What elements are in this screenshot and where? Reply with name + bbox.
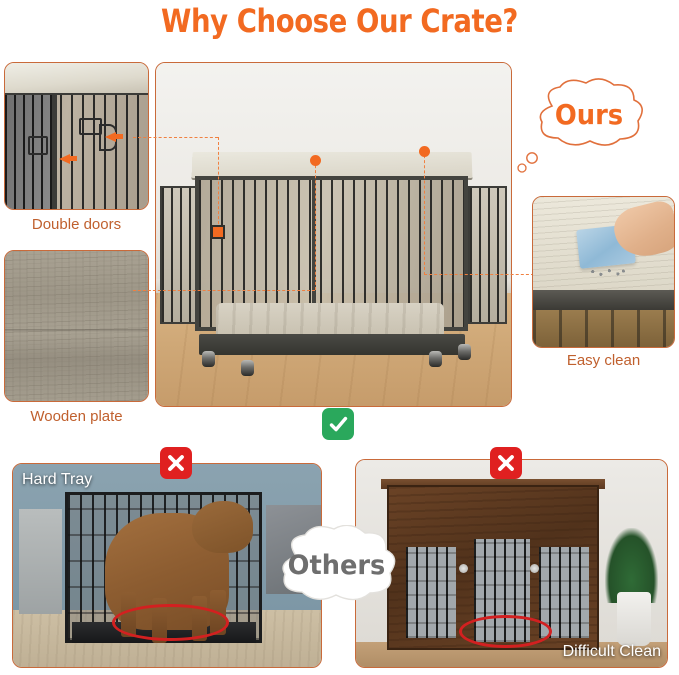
tabletop-edge: [533, 290, 674, 310]
callout-node-double-doors: [211, 225, 225, 239]
rattan-basket-row: [533, 310, 674, 348]
callout-line-wooden-plate-vertical: [315, 160, 316, 290]
crate-right-wing: [468, 186, 507, 323]
caster-wheel: [202, 351, 215, 367]
thought-bubble-ours: Ours: [528, 78, 650, 150]
cross-icon: [166, 453, 186, 473]
callout-dot-easy-clean-top: [419, 146, 430, 157]
mesh-door-left: [406, 547, 456, 638]
cross-icon: [496, 453, 516, 473]
check-icon: [328, 414, 349, 435]
callout-line-double-doors-vertical: [218, 137, 219, 229]
caption-wooden-plate: Wooden plate: [4, 408, 149, 425]
background-shelf: [19, 509, 62, 615]
crate-wood-tabletop: [191, 152, 472, 178]
caption-double-doors: Double doors: [4, 216, 149, 233]
status-badge-ours-check: [322, 408, 354, 440]
wood-grain-texture: [5, 251, 148, 401]
caster-wheel: [241, 360, 254, 376]
thought-bubble-others: Others: [270, 525, 403, 605]
arrow-right-icon-right-door: [105, 132, 116, 142]
caption-easy-clean: Easy clean: [532, 352, 675, 369]
callout-dot-wooden-plate-top: [310, 155, 321, 166]
caster-wheel: [458, 344, 471, 360]
callout-line-double-doors: [133, 137, 218, 138]
feature-panel-double-doors: [4, 62, 149, 210]
cabinet-knob: [530, 564, 539, 573]
callout-line-easy-clean-vertical: [424, 150, 425, 275]
crate-tabletop: [5, 63, 148, 95]
feature-panel-wooden-plate: [4, 250, 149, 402]
plant-pot: [617, 592, 651, 646]
caster-wheel: [429, 351, 442, 367]
label-hard-tray: Hard Tray: [22, 471, 92, 489]
highlight-ellipse-hard-tray: [112, 604, 229, 641]
crate-base-rail: [199, 334, 465, 355]
thought-bubble-ours-tail: [516, 152, 542, 176]
dog-head: [192, 501, 254, 554]
crate-left-wing: [160, 186, 199, 323]
main-product-photo: [155, 62, 512, 407]
label-difficult-clean: Difficult Clean: [563, 643, 661, 661]
page-title: Why Choose Our Crate?: [48, 2, 632, 40]
arrow-right-icon-left-door: [59, 154, 70, 164]
door-latch-left: [28, 136, 48, 155]
status-badge-cross-right: [490, 447, 522, 479]
cabinet-knob: [459, 564, 468, 573]
crate-door-divider: [52, 95, 57, 209]
thought-bubble-ours-text: Ours: [533, 78, 645, 150]
callout-line-easy-clean: [424, 274, 534, 275]
thought-bubble-others-text: Others: [273, 525, 399, 605]
water-drops: [589, 268, 626, 277]
status-badge-cross-left: [160, 447, 192, 479]
feature-panel-easy-clean: [532, 196, 675, 348]
callout-line-wooden-plate: [133, 290, 315, 291]
